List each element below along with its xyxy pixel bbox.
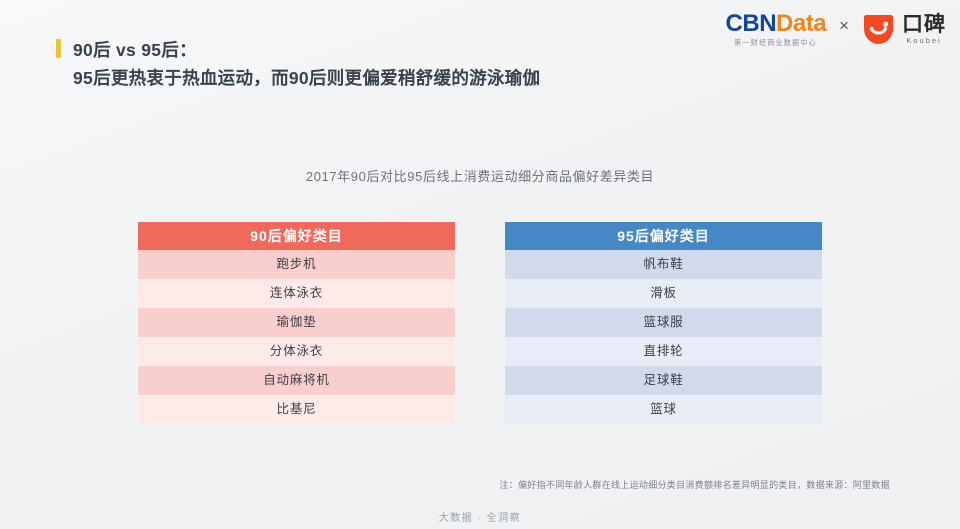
koubei-wordmark: 口碑 Koubei [902, 14, 946, 45]
headline-text: 90后 vs 95后： 95后更热衷于热血运动，而90后则更偏爱稍舒缓的游泳瑜伽 [73, 36, 540, 93]
table-row: 直排轮 [505, 337, 822, 366]
headline-accent-bar [56, 39, 61, 58]
headline-block: 90后 vs 95后： 95后更热衷于热血运动，而90后则更偏爱稍舒缓的游泳瑜伽 [56, 36, 540, 93]
comparison-tables: 90后偏好类目 跑步机 连体泳衣 瑜伽垫 分体泳衣 自动麻将机 比基尼 95后偏… [0, 222, 960, 424]
cbndata-wordmark: CBNData [726, 12, 827, 36]
cbndata-wordmark-secondary: Data [776, 10, 826, 37]
source-footnote: 注：偏好指不同年龄人群在线上运动细分类目消费额排名差异明显的类目，数据来源：阿里… [499, 478, 890, 491]
table-95hou-header: 95后偏好类目 [505, 222, 822, 250]
table-row: 篮球 [505, 395, 822, 424]
cbndata-subtitle: 第一财经商业数据中心 [734, 39, 817, 46]
koubei-name-cn: 口碑 [902, 14, 946, 35]
table-95hou: 95后偏好类目 帆布鞋 滑板 篮球服 直排轮 足球鞋 篮球 [505, 222, 822, 424]
table-row: 足球鞋 [505, 366, 822, 395]
table-row: 篮球服 [505, 308, 822, 337]
chart-subtitle: 2017年90后对比95后线上消费运动细分商品偏好差异类目 [0, 166, 960, 185]
slide-canvas: CBNData 第一财经商业数据中心 × 口碑 Koubei 90后 vs 95… [0, 0, 960, 529]
koubei-name-en: Koubei [906, 37, 941, 45]
table-row: 跑步机 [138, 250, 455, 279]
cbndata-wordmark-primary: CBN [726, 10, 777, 37]
koubei-smile-icon [862, 14, 895, 45]
brand-separator-x: × [838, 16, 850, 36]
table-row: 自动麻将机 [138, 366, 455, 395]
table-row: 瑜伽垫 [138, 308, 455, 337]
headline-line-1: 90后 vs 95后： [73, 36, 540, 64]
table-row: 帆布鞋 [505, 250, 822, 279]
brand-bar: CBNData 第一财经商业数据中心 × 口碑 Koubei [726, 12, 946, 47]
cbndata-logo: CBNData 第一财经商业数据中心 [726, 12, 827, 47]
table-row: 连体泳衣 [138, 279, 455, 308]
table-row: 分体泳衣 [138, 337, 455, 366]
table-90hou-header: 90后偏好类目 [138, 222, 455, 250]
headline-line-2: 95后更热衷于热血运动，而90后则更偏爱稍舒缓的游泳瑜伽 [73, 64, 540, 92]
table-row: 滑板 [505, 279, 822, 308]
table-row: 比基尼 [138, 395, 455, 424]
koubei-logo: 口碑 Koubei [862, 14, 946, 45]
slide-watermark: 大数据 · 全洞察 [0, 509, 960, 524]
table-90hou: 90后偏好类目 跑步机 连体泳衣 瑜伽垫 分体泳衣 自动麻将机 比基尼 [138, 222, 455, 424]
